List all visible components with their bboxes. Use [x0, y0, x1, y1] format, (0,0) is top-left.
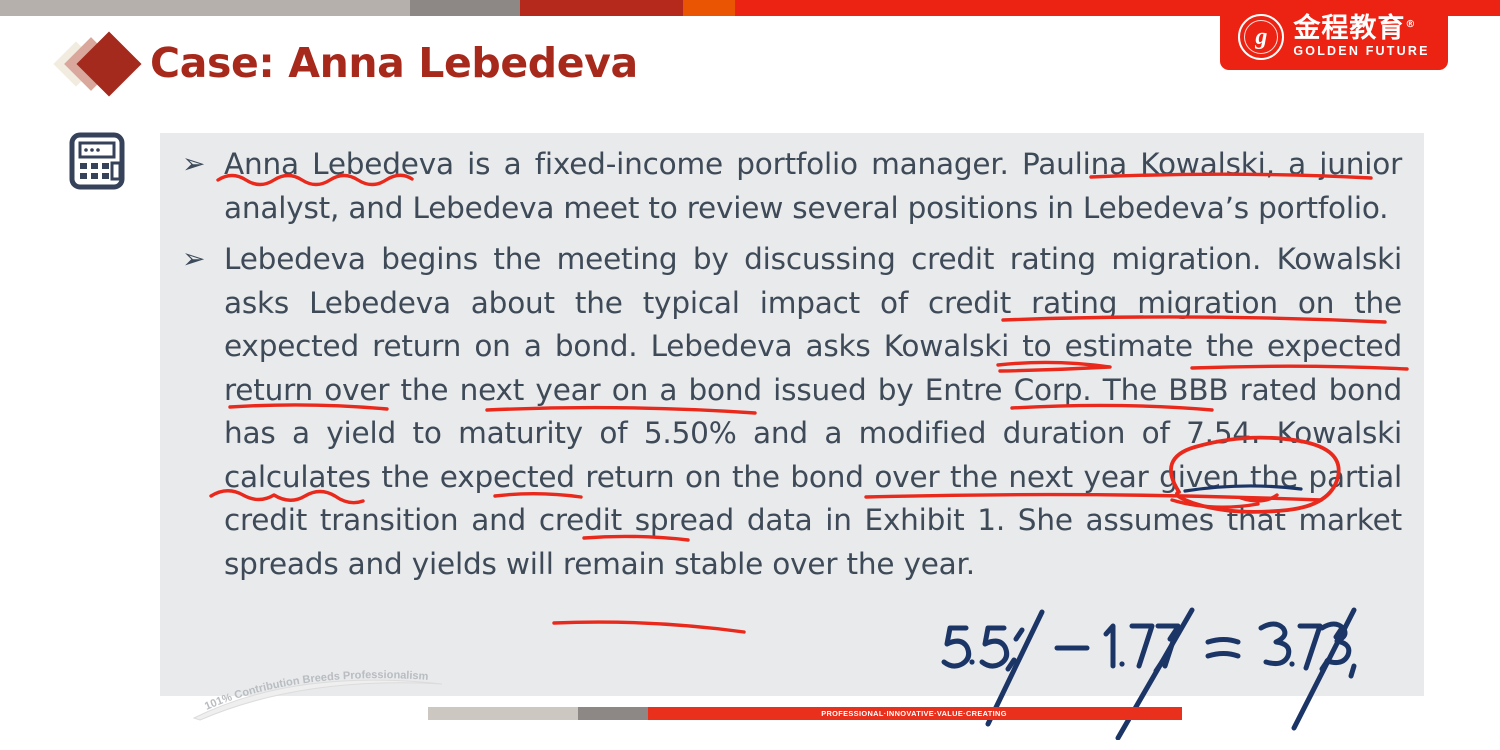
topbar-segment-light-gray: [0, 0, 410, 16]
title-row: Case: Anna Lebedeva: [60, 32, 638, 94]
paragraph-text-2: Lebedeva begins the meeting by discussin…: [224, 238, 1402, 586]
calculator-icon: [68, 132, 126, 190]
bullet-arrow-icon: ➢: [182, 143, 224, 230]
slide-canvas: g 金程教育® GOLDEN FUTURE Case: Anna Lebedev…: [0, 0, 1500, 750]
topbar-segment-dark-red: [520, 0, 683, 16]
footer-bar-segment-dark-gray: [578, 707, 648, 720]
logo-chinese-name: 金程教育®: [1293, 15, 1416, 43]
logo-monogram: g: [1255, 25, 1267, 49]
logo-registered-mark: ®: [1405, 19, 1416, 30]
logo-english-name: GOLDEN FUTURE: [1293, 44, 1429, 59]
footer-tagline: PROFESSIONAL·INNOVATIVE·VALUE·CREATING: [821, 709, 1007, 718]
topbar-segment-mid-gray: [410, 0, 520, 16]
paragraph-block-1: ➢ Anna Lebedeva is a fixed-income portfo…: [160, 133, 1424, 230]
page-title: Case: Anna Lebedeva: [150, 39, 638, 87]
paragraph-block-2: ➢ Lebedeva begins the meeting by discuss…: [160, 230, 1424, 586]
logo-text-block: 金程教育® GOLDEN FUTURE: [1293, 15, 1429, 59]
diamond-decoration-icon: [60, 32, 144, 94]
bullet-arrow-icon: ➢: [182, 238, 224, 586]
footer-bar-segment-gray: [428, 707, 578, 720]
footer-bar: PROFESSIONAL·INNOVATIVE·VALUE·CREATING: [428, 707, 1180, 720]
footer-bar-right-accent: [1110, 707, 1182, 720]
brand-logo: g 金程教育® GOLDEN FUTURE: [1220, 0, 1448, 70]
topbar-segment-orange: [683, 0, 735, 16]
footer-bar-segment-red: PROFESSIONAL·INNOVATIVE·VALUE·CREATING: [648, 707, 1180, 720]
logo-seal-icon: g: [1238, 14, 1284, 60]
paragraph-text-1: Anna Lebedeva is a fixed-income portfoli…: [224, 143, 1402, 230]
